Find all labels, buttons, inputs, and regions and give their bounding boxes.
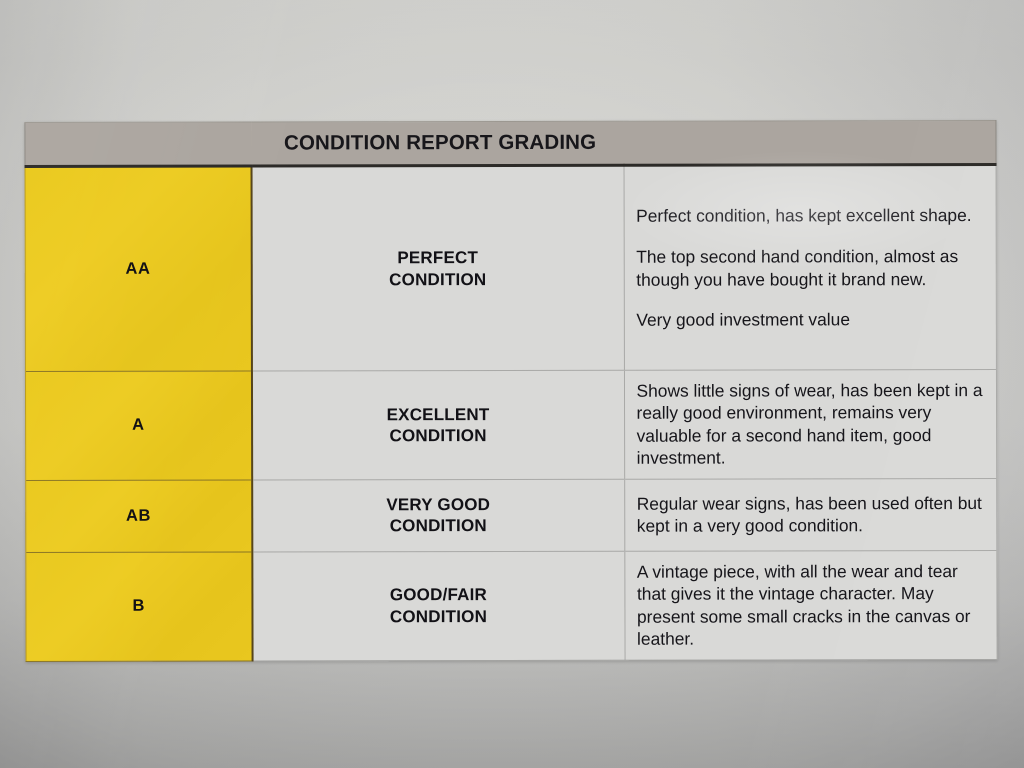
description-paragraph: Shows little signs of wear, has been kep… xyxy=(636,379,986,470)
condition-name-cell-ab: VERY GOOD CONDITION xyxy=(252,479,625,552)
condition-line-1: VERY GOOD xyxy=(253,494,624,516)
condition-line-2: CONDITION xyxy=(253,425,624,447)
condition-line-2: CONDITION xyxy=(253,605,624,627)
condition-line-1: EXCELLENT xyxy=(253,403,624,425)
condition-line-1: GOOD/FAIR xyxy=(253,584,624,606)
condition-name-cell-a: EXCELLENT CONDITION xyxy=(251,370,624,480)
grade-cell-a: A xyxy=(25,371,251,480)
description-paragraph: Very good investment value xyxy=(636,308,986,331)
condition-line-1: PERFECT xyxy=(252,247,623,269)
grade-cell-aa: AA xyxy=(25,166,251,371)
table-row: AB VERY GOOD CONDITION Regular wear sign… xyxy=(26,478,997,552)
condition-line-2: CONDITION xyxy=(253,515,624,537)
grade-cell-b: B xyxy=(26,552,252,661)
header-title-cell: CONDITION REPORT GRADING xyxy=(251,120,996,166)
table-row: A EXCELLENT CONDITION Shows little signs… xyxy=(25,369,996,480)
description-paragraph: The top second hand condition, almost as… xyxy=(636,245,986,291)
description-cell-ab: Regular wear signs, has been used often … xyxy=(624,478,997,551)
page-title: CONDITION REPORT GRADING xyxy=(284,131,596,155)
condition-name-cell-aa: PERFECT CONDITION xyxy=(251,165,624,371)
header-spacer-cell xyxy=(25,122,251,166)
description-paragraph: Regular wear signs, has been used often … xyxy=(637,492,987,538)
condition-name-cell-b: GOOD/FAIR CONDITION xyxy=(252,551,625,661)
table-row: AA PERFECT CONDITION Perfect condition, … xyxy=(25,164,996,371)
condition-report-grading-table: CONDITION REPORT GRADING AA PERFECT COND… xyxy=(24,120,997,662)
description-cell-a: Shows little signs of wear, has been kep… xyxy=(624,369,997,479)
description-cell-b: A vintage piece, with all the wear and t… xyxy=(624,550,997,660)
description-paragraph: Perfect condition, has kept excellent sh… xyxy=(636,204,986,227)
description-cell-aa: Perfect condition, has kept excellent sh… xyxy=(624,164,997,370)
table-row: B GOOD/FAIR CONDITION A vintage piece, w… xyxy=(26,550,997,661)
description-paragraph: A vintage piece, with all the wear and t… xyxy=(637,560,987,651)
table-header-row: CONDITION REPORT GRADING xyxy=(25,120,996,166)
grade-cell-ab: AB xyxy=(26,480,252,552)
condition-line-2: CONDITION xyxy=(252,268,623,290)
